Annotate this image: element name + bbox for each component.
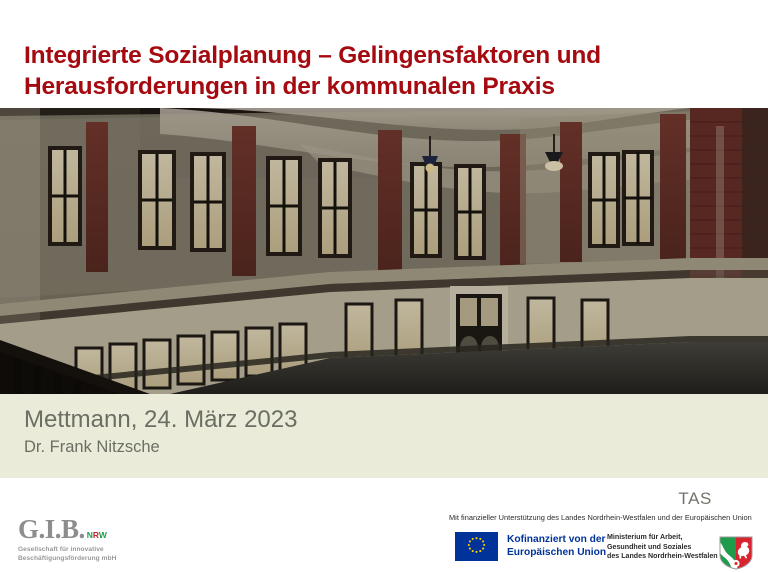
tas-mark: TAS — [678, 489, 712, 509]
event-place-date: Mettmann, 24. März 2023 — [24, 405, 297, 435]
gib-logo: G.I.B. NRW Gesellschaft für innovative B… — [18, 516, 148, 563]
eu-funding-line-2: Europäischen Union — [507, 547, 606, 559]
ministry-text: Ministerium für Arbeit, Gesundheit und S… — [607, 533, 718, 562]
funding-note: Mit finanzieller Unterstützung des Lande… — [449, 513, 752, 523]
gib-nrw-w: W — [99, 530, 107, 540]
eu-funding-text: Kofinanziert von der Europäischen Union — [507, 534, 606, 559]
ministry-logo: Ministerium für Arbeit, Gesundheit und S… — [607, 533, 718, 562]
slide-title-band: Integrierte Sozialplanung – Gelingensfak… — [0, 0, 768, 108]
gib-nrw-badge: NRW — [87, 531, 107, 540]
building-atrium-photo — [0, 108, 768, 394]
gib-subtitle-line-1: Gesellschaft für innovative — [18, 546, 148, 555]
ministry-line-3: des Landes Nordrhein-Westfalen — [607, 552, 718, 562]
slide-footer: TAS G.I.B. NRW Gesellschaft für innovati… — [0, 478, 768, 573]
presentation-slide: Integrierte Sozialplanung – Gelingensfak… — [0, 0, 768, 573]
photo-illustration — [0, 108, 768, 394]
nrw-coat-of-arms-icon — [718, 536, 754, 570]
ministry-line-2: Gesundheit und Soziales — [607, 543, 718, 553]
eu-funding-line-1: Kofinanziert von der — [507, 534, 606, 546]
caption-band: Mettmann, 24. März 2023 Dr. Frank Nitzsc… — [0, 394, 768, 478]
slide-title-line-2: Herausforderungen in der kommunalen Prax… — [24, 71, 744, 108]
gib-logo-letters: G.I.B. — [18, 516, 85, 542]
gib-subtitle-line-2: Beschäftigungsförderung mbH — [18, 555, 148, 564]
eu-funding-logo: Kofinanziert von der Europäischen Union — [455, 532, 606, 561]
ministry-line-1: Ministerium für Arbeit, — [607, 533, 718, 543]
gib-logo-mark: G.I.B. NRW — [18, 516, 148, 542]
eu-flag-icon — [455, 532, 498, 561]
slide-title-line-1: Integrierte Sozialplanung – Gelingensfak… — [24, 40, 744, 71]
speaker-name: Dr. Frank Nitzsche — [24, 437, 160, 458]
